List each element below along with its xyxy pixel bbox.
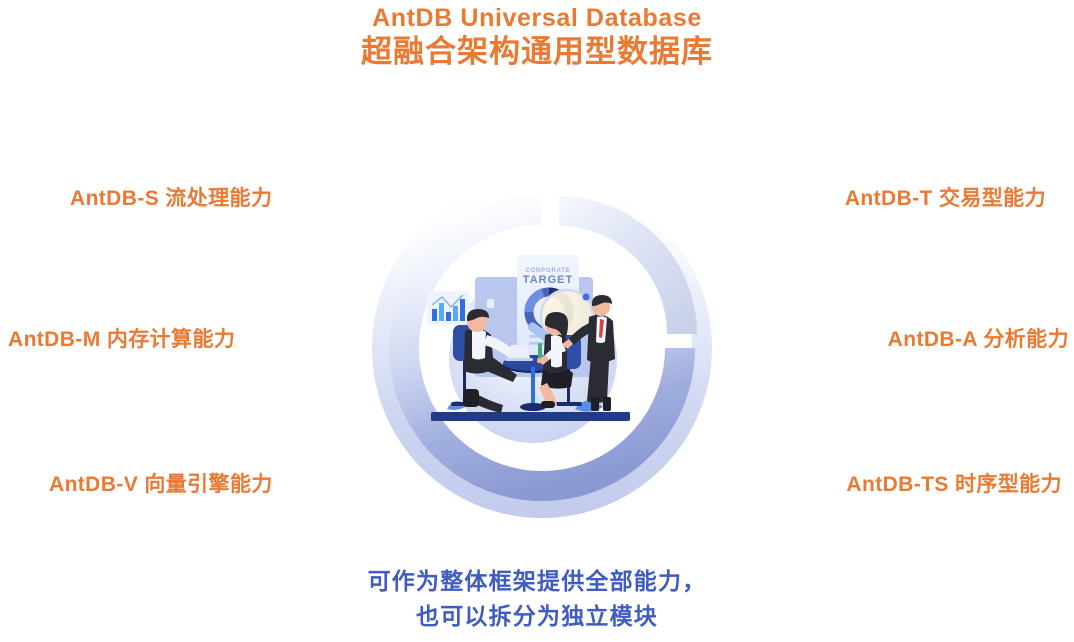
capability-text: AntDB-M 内存计算能力 <box>8 328 235 351</box>
capability-label-antdb-ts: AntDB-TS 时序型能力 <box>846 472 1062 498</box>
capability-text: AntDB-A 分析能力 <box>888 328 1069 351</box>
capability-label-antdb-t: AntDB-T 交易型能力 <box>845 186 1046 212</box>
bar-chart-card <box>427 291 470 325</box>
capability-label-antdb-s: AntDB-S 流处理能力 <box>70 186 272 212</box>
footer-line-2: 也可以拆分为独立模块 <box>0 599 1074 634</box>
capability-label-antdb-m: AntDB-M 内存计算能力 <box>8 327 235 353</box>
capability-text: AntDB-T 交易型能力 <box>845 187 1046 210</box>
float-note-icon <box>487 299 494 308</box>
float-dot-icon <box>583 294 590 301</box>
capability-text: AntDB-TS 时序型能力 <box>846 473 1062 496</box>
business-team-illustration: CORPORATE TARGET <box>425 239 665 439</box>
capability-label-antdb-v: AntDB-V 向量引擎能力 <box>49 472 273 498</box>
capability-label-antdb-a: AntDB-A 分析能力 <box>888 327 1069 353</box>
page-title: AntDB Universal Database 超融合架构通用型数据库 <box>0 0 1074 71</box>
center-graphic: CORPORATE TARGET <box>357 163 727 533</box>
bottle-icon <box>538 343 542 359</box>
page-title-english: AntDB Universal Database <box>0 0 1074 33</box>
floor-top <box>431 412 630 421</box>
footer-note: 可作为整体框架提供全部能力， 也可以拆分为独立模块 <box>0 564 1074 634</box>
capability-text: AntDB-S 流处理能力 <box>70 187 272 210</box>
footer-line-1: 可作为整体框架提供全部能力， <box>0 564 1074 599</box>
capability-text: AntDB-V 向量引擎能力 <box>49 473 273 496</box>
poster-heading-large: TARGET <box>523 274 573 286</box>
page-title-chinese: 超融合架构通用型数据库 <box>0 33 1074 71</box>
